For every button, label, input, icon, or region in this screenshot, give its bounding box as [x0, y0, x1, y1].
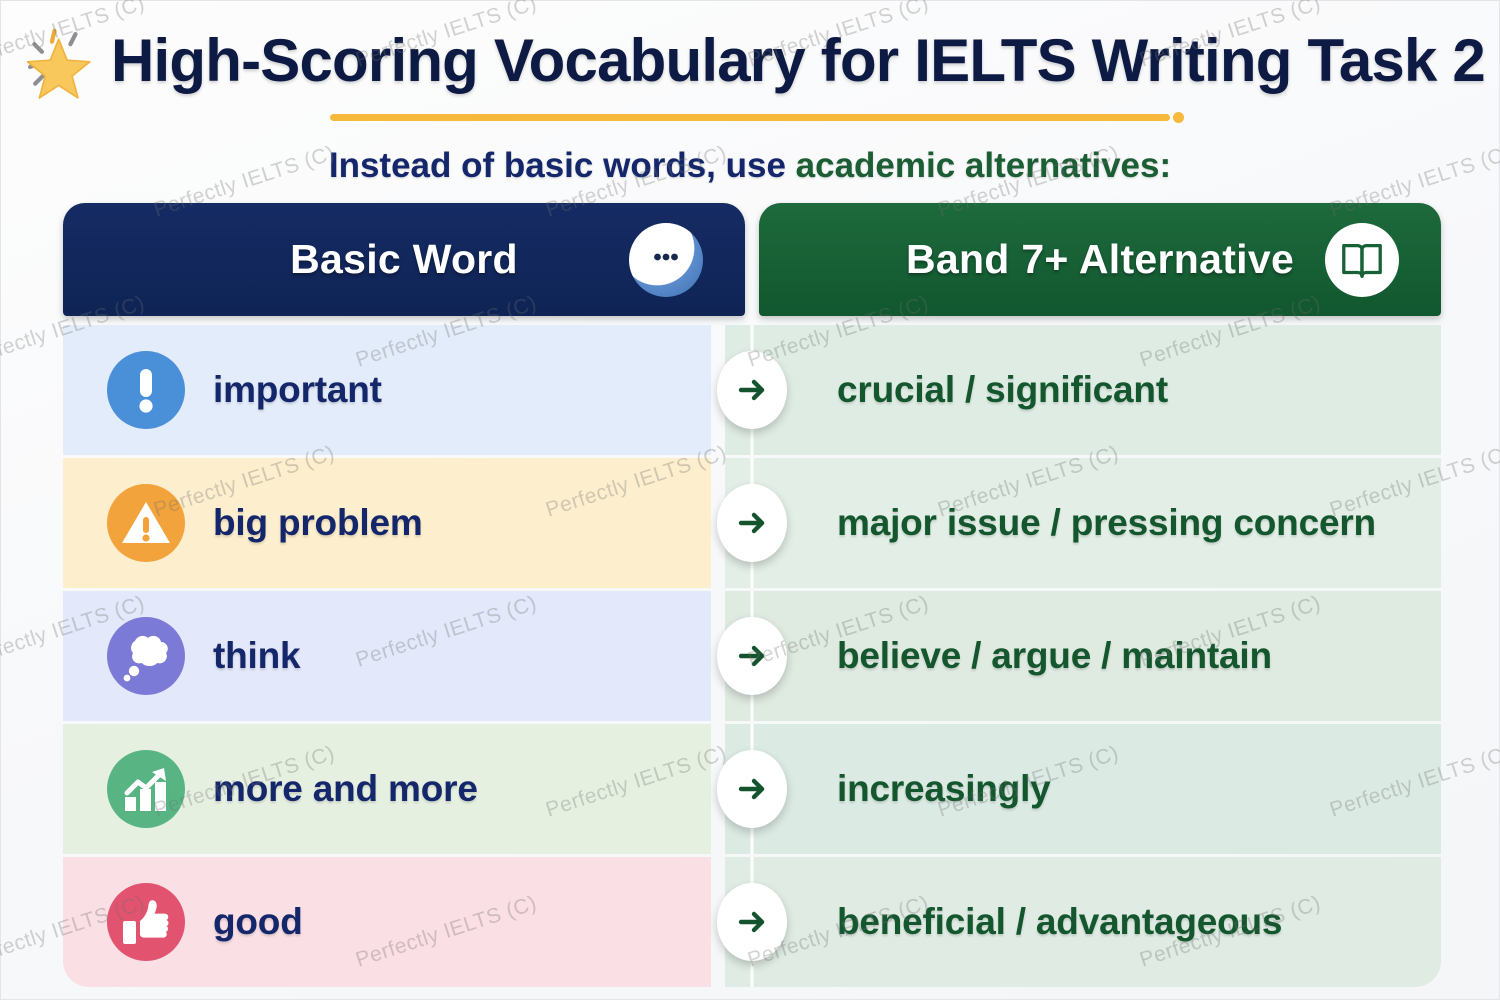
row-right-cell: believe / argue / maintain [725, 591, 1441, 721]
column-header-band-alternative: Band 7+ Alternative [759, 203, 1441, 316]
infographic-page: High-Scoring Vocabulary for IELTS Writin… [0, 0, 1500, 1000]
alternative-word-text: major issue / pressing concern [837, 502, 1376, 544]
growth-chart-icon [107, 750, 185, 828]
basic-word-text: good [213, 901, 303, 943]
column-header-basic-word: Basic Word [63, 203, 745, 316]
basic-word-text: big problem [213, 502, 423, 544]
table-row: think believe / argue / maintain [63, 591, 1441, 721]
basic-word-text: important [213, 369, 382, 411]
subtitle-plain: Instead of basic words, use [329, 146, 796, 185]
vocabulary-table: Basic Word Band 7+ Alternative [63, 203, 1441, 971]
arrow-right-icon [717, 750, 787, 828]
table-row: big problem major issue / pressing conce… [63, 458, 1441, 588]
table-body: important crucial / significant [63, 325, 1441, 987]
row-left-cell: big problem [63, 458, 711, 588]
chat-bubble-icon [629, 223, 703, 297]
thought-bubble-icon [107, 617, 185, 695]
header: High-Scoring Vocabulary for IELTS Writin… [1, 1, 1499, 201]
table-row: important crucial / significant [63, 325, 1441, 455]
row-left-cell: more and more [63, 724, 711, 854]
alternative-word-text: crucial / significant [837, 369, 1168, 411]
arrow-right-icon [717, 617, 787, 695]
open-book-icon [1325, 223, 1399, 297]
row-left-cell: important [63, 325, 711, 455]
row-right-cell: beneficial / advantageous [725, 857, 1441, 987]
column-header-band-alternative-label: Band 7+ Alternative [906, 236, 1294, 283]
subtitle-accent: academic alternatives: [796, 146, 1171, 185]
thumbs-up-icon [107, 883, 185, 961]
exclamation-circle-icon [107, 351, 185, 429]
table-row: good beneficial / advantageous [63, 857, 1441, 987]
row-left-cell: good [63, 857, 711, 987]
arrow-right-icon [717, 351, 787, 429]
row-right-cell: increasingly [725, 724, 1441, 854]
basic-word-text: think [213, 635, 300, 677]
alternative-word-text: beneficial / advantageous [837, 901, 1282, 943]
title-row: High-Scoring Vocabulary for IELTS Writin… [1, 19, 1499, 103]
sparkle-star-icon [15, 19, 99, 103]
table-header-row: Basic Word Band 7+ Alternative [63, 203, 1441, 316]
subtitle: Instead of basic words, use academic alt… [1, 146, 1499, 186]
alternative-word-text: increasingly [837, 768, 1051, 810]
table-row: more and more increasingly [63, 724, 1441, 854]
basic-word-text: more and more [213, 768, 478, 810]
column-header-basic-word-label: Basic Word [290, 236, 518, 283]
row-right-cell: crucial / significant [725, 325, 1441, 455]
arrow-right-icon [717, 484, 787, 562]
arrow-right-icon [717, 883, 787, 961]
row-left-cell: think [63, 591, 711, 721]
row-right-cell: major issue / pressing concern [725, 458, 1441, 588]
alternative-word-text: believe / argue / maintain [837, 635, 1272, 677]
warning-triangle-icon [107, 484, 185, 562]
page-title: High-Scoring Vocabulary for IELTS Writin… [111, 31, 1485, 91]
title-divider [330, 114, 1170, 121]
